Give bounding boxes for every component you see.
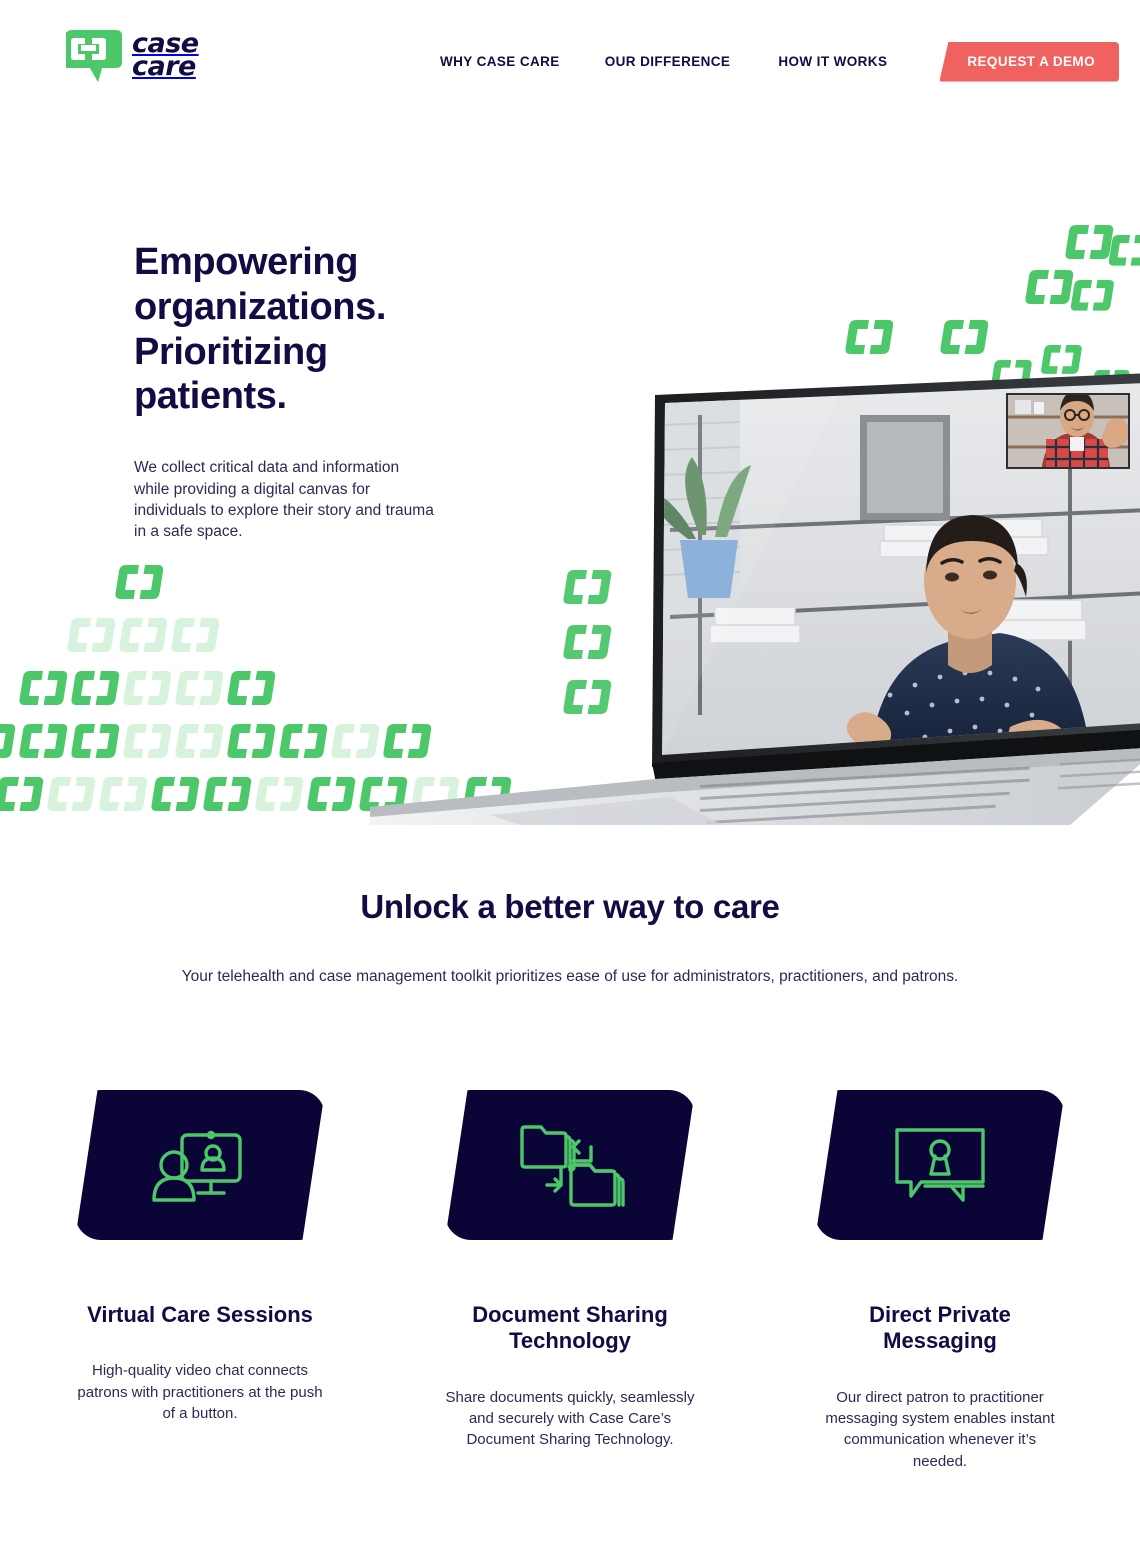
- feature-card-document-sharing[interactable]: Document Sharing Technology Share docume…: [445, 1090, 695, 1472]
- feature-card-private-messaging[interactable]: Direct Private Messaging Our direct patr…: [815, 1090, 1065, 1472]
- nav-item-how-it-works[interactable]: HOW IT WORKS: [778, 50, 887, 73]
- speech-bubble-keyhole-icon: [815, 1090, 1065, 1240]
- feature-card-title: Direct Private Messaging: [815, 1302, 1065, 1355]
- card-shape: [815, 1090, 1065, 1240]
- feature-card-list: Virtual Care Sessions High-quality video…: [0, 1090, 1140, 1472]
- feature-card-description: Share documents quickly, seamlessly and …: [445, 1387, 695, 1451]
- main-navigation: WHY CASE CARE OUR DIFFERENCE HOW IT WORK…: [440, 42, 1119, 82]
- feature-card-description: High-quality video chat connects patrons…: [75, 1360, 325, 1424]
- card-shape: [75, 1090, 325, 1240]
- features-title: Unlock a better way to care: [0, 888, 1140, 926]
- hero-copy: Empowering organizations. Prioritizing p…: [134, 240, 454, 543]
- video-call-presentation-icon: [75, 1090, 325, 1240]
- logo-word-line2: care: [132, 55, 199, 78]
- feature-card-description: Our direct patron to practitioner messag…: [815, 1387, 1065, 1472]
- case-care-logo-icon: [60, 26, 122, 84]
- hero-section: Empowering organizations. Prioritizing p…: [0, 0, 1140, 828]
- nav-item-our-difference[interactable]: OUR DIFFERENCE: [605, 50, 731, 73]
- features-section: Unlock a better way to care Your telehea…: [0, 828, 1140, 1542]
- features-subtitle: Your telehealth and case management tool…: [0, 966, 1140, 988]
- hero-title: Empowering organizations. Prioritizing p…: [134, 240, 454, 419]
- hero-laptop-image: [370, 355, 1140, 825]
- folder-exchange-icon: [445, 1090, 695, 1240]
- feature-card-title: Document Sharing Technology: [445, 1302, 695, 1355]
- nav-item-why-case-care[interactable]: WHY CASE CARE: [440, 50, 560, 73]
- request-demo-button[interactable]: REQUEST A DEMO: [939, 42, 1119, 82]
- logo-wordmark: case care: [132, 32, 199, 78]
- logo-link[interactable]: case care: [60, 26, 199, 84]
- hero-subtitle: We collect critical data and information…: [134, 457, 434, 543]
- card-shape: [445, 1090, 695, 1240]
- feature-card-title: Virtual Care Sessions: [75, 1302, 325, 1328]
- feature-card-virtual-care[interactable]: Virtual Care Sessions High-quality video…: [75, 1090, 325, 1472]
- site-header: case care WHY CASE CARE OUR DIFFERENCE H…: [0, 0, 1140, 112]
